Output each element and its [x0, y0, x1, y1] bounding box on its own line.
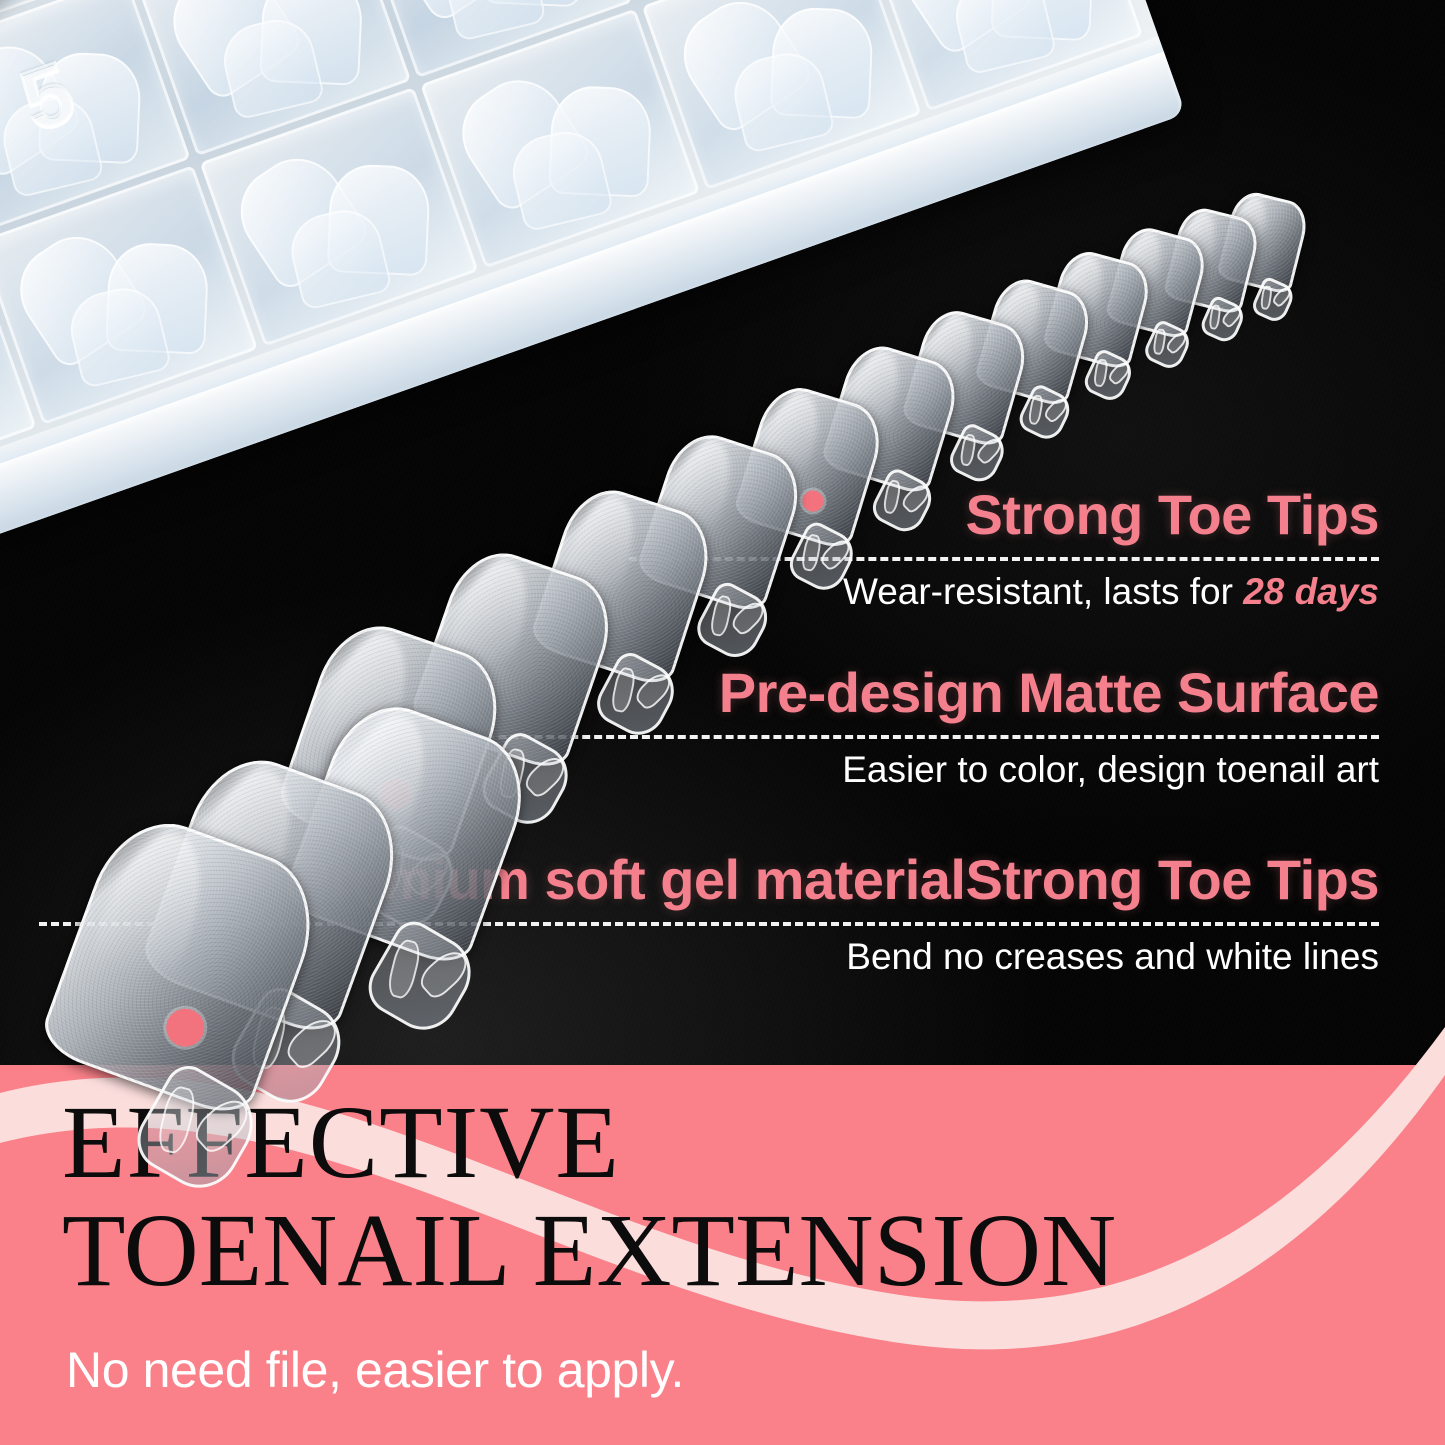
- stored-nail-tip: [438, 0, 548, 42]
- feature-subtext-prefix: Easier to color, design toenail art: [842, 749, 1379, 790]
- feature-subtext-highlight: 28 days: [1243, 571, 1379, 612]
- page-title-line2: TOENAIL EXTENSION: [62, 1197, 1392, 1305]
- page-title: EFFECTIVE TOENAIL EXTENSION: [62, 1089, 1392, 1305]
- stored-nail-tip: [0, 0, 37, 9]
- product-marketing-image: 485 Luckyfairy FAL: [0, 0, 1445, 1445]
- feature-subtext-prefix: Bend no creases and white lines: [846, 936, 1379, 977]
- feature-subtext-prefix: Wear-resistant, lasts for: [843, 571, 1243, 612]
- page-tagline: No need file, easier to apply.: [66, 1341, 684, 1399]
- stored-nail-tip: [948, 0, 1058, 75]
